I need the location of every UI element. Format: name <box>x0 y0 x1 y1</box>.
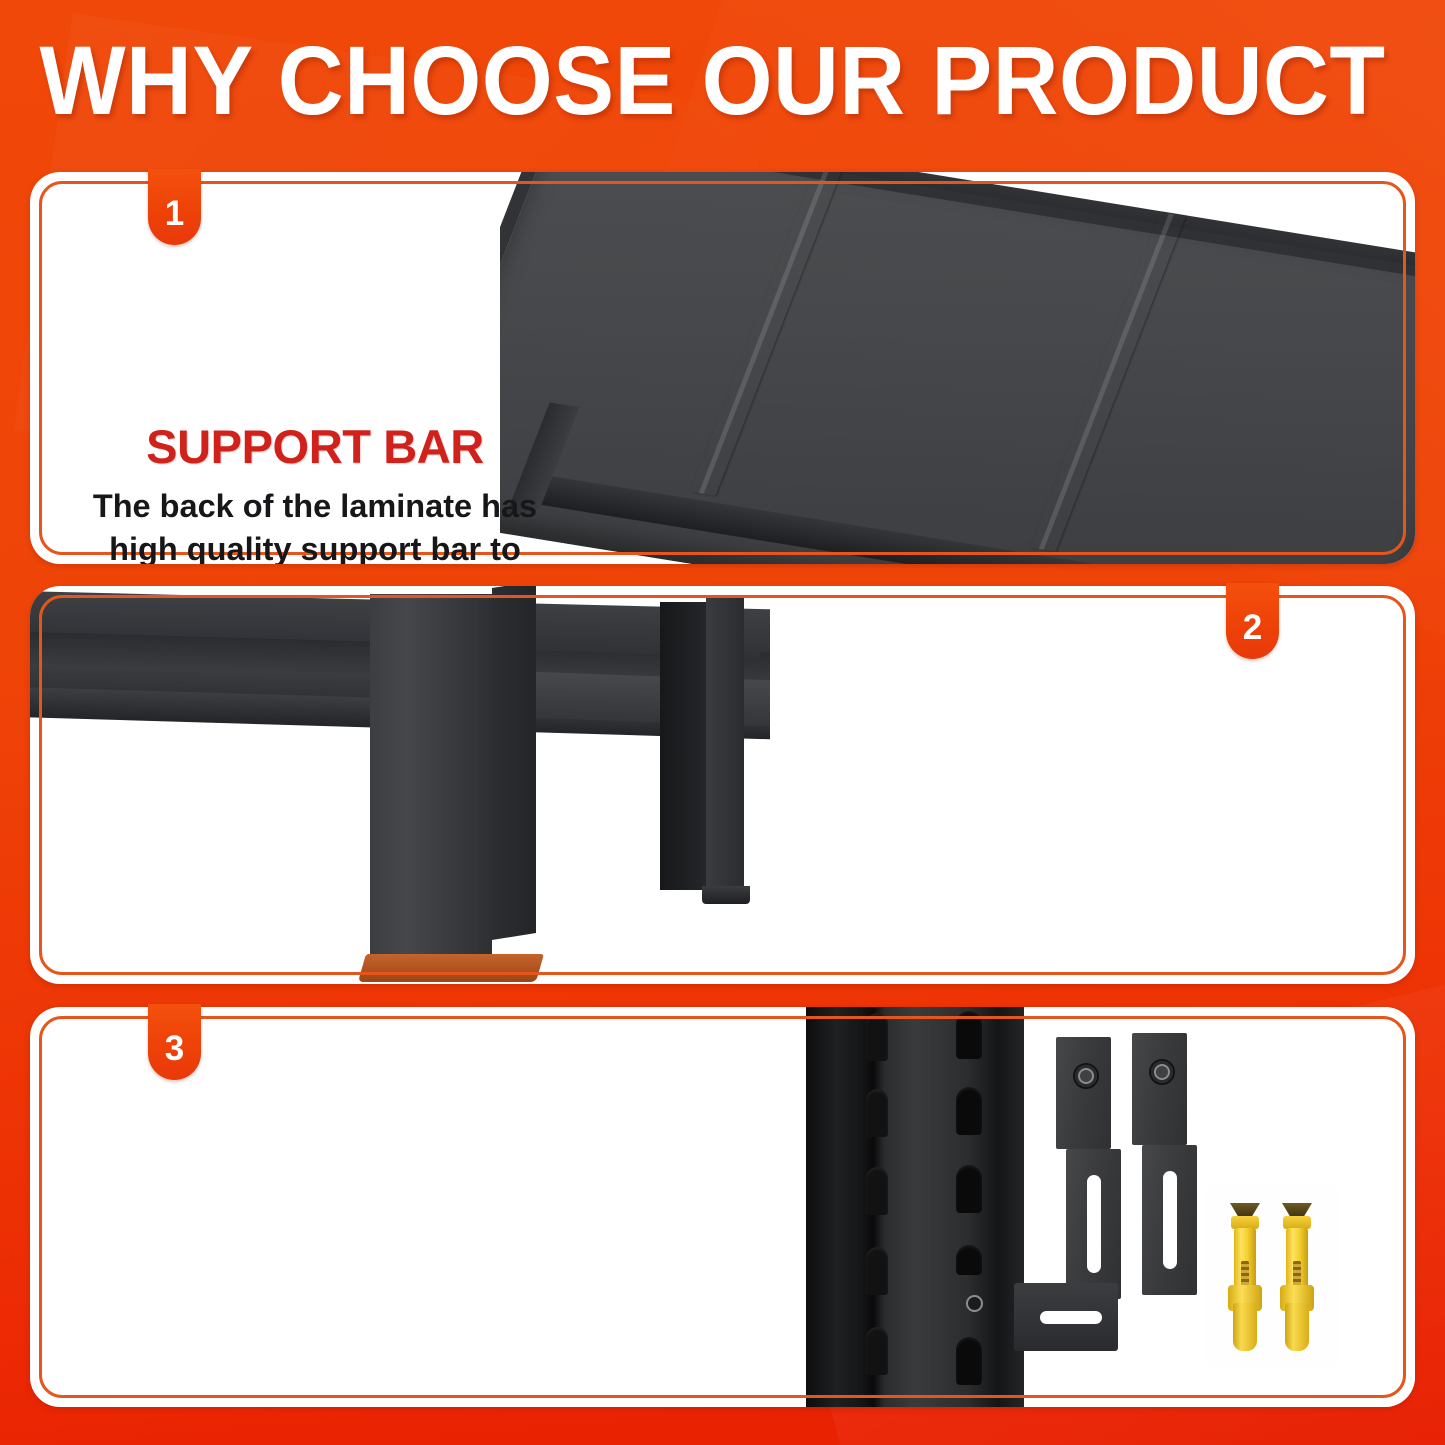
bracket-adjustment-slot <box>1163 1171 1177 1269</box>
page-title: WHY CHOOSE OUR PRODUCT <box>0 32 1386 129</box>
anchor-tip <box>1233 1303 1257 1351</box>
feature-card-clip-region: FOOT PADS The Foot pads not only pro-tec… <box>30 586 1415 984</box>
support-bar-product-image <box>500 172 1415 564</box>
feature-text-support-bar: SUPPORT BAR The back of the laminate has… <box>80 422 550 564</box>
post-keyhole-slot <box>866 1089 888 1137</box>
post-keyhole-slot <box>956 1087 982 1135</box>
feature-number-badge: 1 <box>148 169 201 245</box>
screw-head-icon <box>1282 1203 1312 1217</box>
foot-pad-back <box>702 886 750 904</box>
feature-card-anti-tipping-clips: ANTI-TIPPING CLIPS Anti-tipping clips ke… <box>30 1007 1415 1407</box>
feature-card-support-bar: SUPPORT BAR The back of the laminate has… <box>30 172 1415 564</box>
bracket-adjustment-slot <box>1040 1311 1102 1324</box>
feature-card-clip-region: ANTI-TIPPING CLIPS Anti-tipping clips ke… <box>30 1007 1415 1407</box>
bracket-adjustment-slot <box>1087 1175 1101 1273</box>
feature-card-foot-pads: FOOT PADS The Foot pads not only pro-tec… <box>30 586 1415 984</box>
post-keyhole-slot <box>956 1337 982 1385</box>
anti-tipping-bracket-mounted <box>1014 1283 1118 1351</box>
post-rivet-icon <box>966 1295 983 1312</box>
post-keyhole-slot <box>956 1165 982 1213</box>
anti-tipping-bracket-a-lower <box>1066 1149 1121 1299</box>
feature-title: SUPPORT BAR <box>80 422 550 471</box>
post-keyhole-slot <box>866 1327 888 1375</box>
screw-head-icon <box>1230 1203 1260 1217</box>
shelf-leg-front-side <box>492 586 536 940</box>
post-keyhole-slot <box>866 1247 888 1295</box>
post-keyhole-slot <box>866 1167 888 1215</box>
anti-tipping-clips-product-image <box>770 1007 1415 1407</box>
anti-tipping-bracket-b-upper <box>1132 1033 1187 1145</box>
anti-tipping-bracket-b-lower <box>1142 1145 1197 1295</box>
anti-tipping-bracket-a-upper <box>1056 1037 1111 1149</box>
feature-number-badge: 3 <box>148 1004 201 1080</box>
anchor-tip <box>1285 1303 1309 1351</box>
post-keyhole-slot <box>866 1013 888 1061</box>
post-keyhole-slot <box>956 1011 982 1059</box>
feature-description: The back of the laminate has high qualit… <box>80 485 550 564</box>
post-keyhole-slot <box>956 1245 982 1275</box>
bracket-rivet-icon <box>1149 1059 1175 1085</box>
feature-card-clip-region: SUPPORT BAR The back of the laminate has… <box>30 172 1415 564</box>
wall-anchor <box>1228 1203 1262 1351</box>
wall-anchors-group <box>1206 1185 1338 1367</box>
foot-pads-product-image <box>30 586 830 984</box>
shelf-upright-post <box>806 1007 1024 1407</box>
feature-number-badge: 2 <box>1226 583 1279 659</box>
foot-pad-front <box>358 954 544 982</box>
shelf-leg-back-shadow <box>660 602 706 890</box>
wall-anchor <box>1280 1203 1314 1351</box>
bracket-rivet-icon <box>1073 1063 1099 1089</box>
shelf-leg-front <box>370 594 492 969</box>
infographic-poster: WHY CHOOSE OUR PRODUCT SUPPORT BAR The b… <box>0 0 1445 1445</box>
shelf-leg-back <box>706 596 744 892</box>
poster-header: WHY CHOOSE OUR PRODUCT <box>0 0 1445 160</box>
